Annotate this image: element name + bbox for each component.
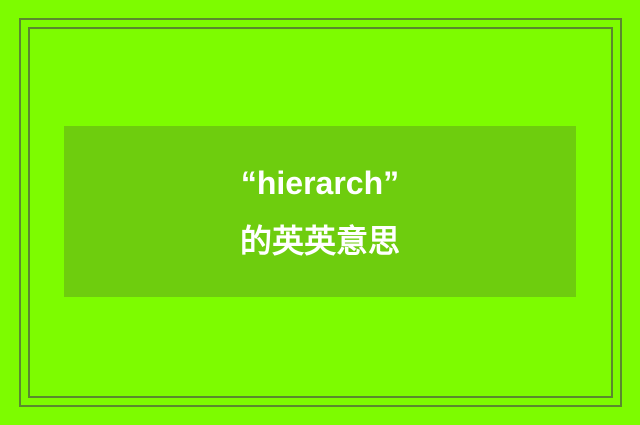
title-block: “hierarch”的英英意思 (225, 154, 415, 270)
title-card: “hierarch”的英英意思 (64, 126, 576, 297)
page-title: “hierarch”的英英意思 (225, 154, 415, 270)
poster-canvas: “hierarch”的英英意思 (0, 0, 640, 425)
